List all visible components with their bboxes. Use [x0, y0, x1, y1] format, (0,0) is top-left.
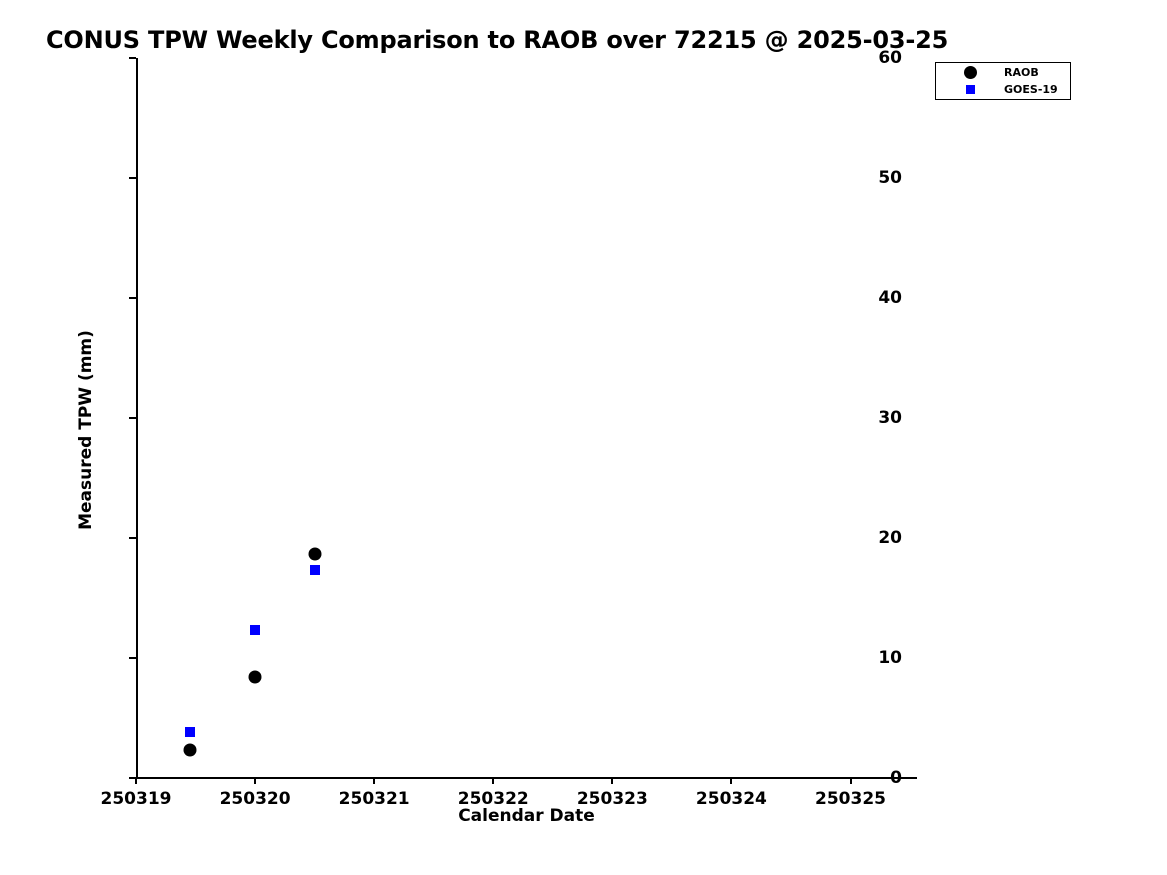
legend-marker-raob [936, 66, 1004, 79]
x-tick-mark [850, 777, 852, 784]
data-point-goes-19 [185, 727, 195, 737]
legend-label-goes19: GOES-19 [1004, 83, 1058, 96]
y-tick-mark [129, 657, 136, 659]
circle-marker-icon [964, 66, 977, 79]
y-tick-label: 20 [878, 528, 902, 548]
data-point-raob [183, 744, 196, 757]
x-tick-mark [730, 777, 732, 784]
plot-area: 0102030405060 25031925032025032125032225… [136, 58, 916, 778]
y-tick-label: 50 [878, 168, 902, 188]
y-tick-label: 40 [878, 288, 902, 308]
x-tick-mark [373, 777, 375, 784]
data-point-goes-19 [250, 625, 260, 635]
chart-title: CONUS TPW Weekly Comparison to RAOB over… [46, 26, 948, 54]
y-axis-label: Measured TPW (mm) [76, 330, 96, 530]
x-tick-mark [135, 777, 137, 784]
legend-label-raob: RAOB [1004, 66, 1039, 79]
y-tick-label: 60 [878, 48, 902, 68]
x-tick-mark [492, 777, 494, 784]
chart-legend: RAOB GOES-19 [935, 62, 1071, 100]
y-tick-mark [129, 177, 136, 179]
x-tick-mark [254, 777, 256, 784]
y-tick-mark [129, 297, 136, 299]
y-tick-mark [129, 417, 136, 419]
y-tick-label: 30 [878, 408, 902, 428]
data-point-goes-19 [310, 565, 320, 575]
square-marker-icon [966, 85, 975, 94]
y-tick-mark [129, 57, 136, 59]
y-tick-label: 10 [878, 648, 902, 668]
data-point-raob [249, 671, 262, 684]
legend-marker-goes19 [936, 85, 1004, 94]
y-tick-mark [129, 537, 136, 539]
x-tick-mark [611, 777, 613, 784]
x-axis-label: Calendar Date [0, 806, 1053, 826]
data-point-raob [308, 547, 321, 560]
legend-item-goes19: GOES-19 [936, 80, 1070, 99]
chart-figure: CONUS TPW Weekly Comparison to RAOB over… [0, 0, 1167, 875]
